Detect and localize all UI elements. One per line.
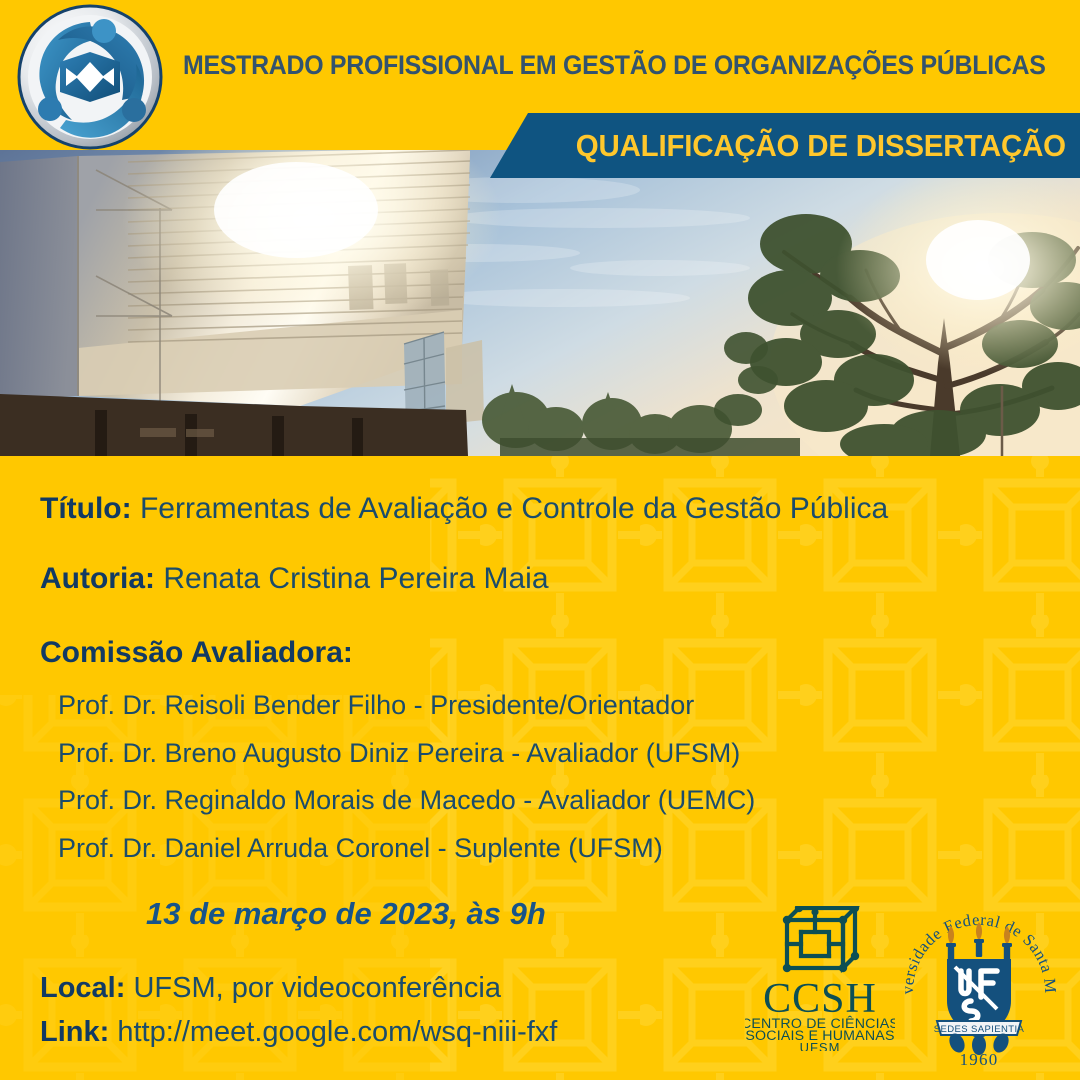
page-title: MESTRADO PROFISSIONAL EM GESTÃO DE ORGAN… <box>183 52 1010 79</box>
field-link: Link: http://meet.google.com/wsq-niii-fx… <box>40 1016 557 1049</box>
link-value[interactable]: http://meet.google.com/wsq-niii-fxf <box>117 1016 557 1048</box>
titulo-label: Título: <box>40 492 132 525</box>
mpgop-logo-icon <box>14 4 166 150</box>
committee-member: Prof. Dr. Daniel Arruda Coronel - Suplen… <box>58 833 663 864</box>
committee-member: Prof. Dr. Reginaldo Morais de Macedo - A… <box>58 785 755 816</box>
comissao-label: Comissão Avaliadora: <box>40 636 353 669</box>
comissao-heading: Comissão Avaliadora: <box>40 636 353 670</box>
local-value: UFSM, por videoconferência <box>133 972 501 1004</box>
ufsm-seal-logo: Universidade Federal de Santa Maria <box>893 893 1065 1068</box>
campus-photo <box>0 148 1080 456</box>
field-autoria: Autoria: Renata Cristina Pereira Maia <box>40 562 549 596</box>
ribbon-label: QUALIFICAÇÃO DE DISSERTAÇÃO <box>576 128 1066 164</box>
ccsh-line3: UFSM <box>800 1040 841 1051</box>
event-datetime: 13 de março de 2023, às 9h <box>146 896 546 932</box>
ufsm-year: 1960 <box>960 1050 999 1068</box>
field-local: Local: UFSM, por videoconferência <box>40 972 501 1005</box>
committee-member: Prof. Dr. Reisoli Bender Filho - Preside… <box>58 690 694 721</box>
field-titulo: Título: Ferramentas de Avaliação e Contr… <box>40 492 888 526</box>
local-label: Local: <box>40 972 125 1004</box>
ccsh-logo: CCSH CENTRO DE CIÊNCIAS SOCIAIS E HUMANA… <box>745 906 895 1051</box>
poster-root: MESTRADO PROFISSIONAL EM GESTÃO DE ORGAN… <box>0 0 1080 1080</box>
autoria-label: Autoria: <box>40 562 155 595</box>
link-label: Link: <box>40 1016 109 1048</box>
qualification-ribbon: QUALIFICAÇÃO DE DISSERTAÇÃO <box>490 113 1080 178</box>
titulo-value: Ferramentas de Avaliação e Controle da G… <box>140 492 888 525</box>
autoria-value: Renata Cristina Pereira Maia <box>163 562 548 595</box>
committee-member: Prof. Dr. Breno Augusto Diniz Pereira - … <box>58 738 740 769</box>
ufsm-motto: SEDES SAPIENTIA <box>934 1024 1025 1035</box>
